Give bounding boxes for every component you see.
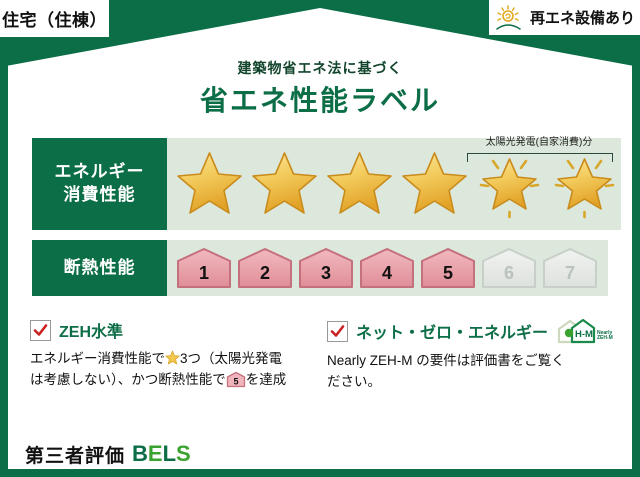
insulation-performance-key: 断熱性能	[32, 240, 167, 296]
third-party-eval-label: 第三者評価	[25, 441, 125, 468]
zeh-body-part2: 3つ（太陽光発電	[180, 351, 282, 366]
energy-performance-key: エネルギー 消費性能	[32, 138, 167, 230]
energy-performance-value: 太陽光発電(自家消費)分	[167, 138, 621, 230]
star-icon	[165, 350, 180, 365]
star-icon	[173, 149, 246, 219]
bels-certification-box: 第三者評価 BELS	[16, 440, 200, 468]
nearly-zeh-m-logo: H-M Nearly ZEH-M	[556, 318, 614, 344]
svg-text:H-M: H-M	[575, 329, 593, 340]
insulation-level-number: 3	[297, 263, 355, 284]
zeh-body-part3: は考慮しない）、かつ断熱性能で	[30, 372, 226, 387]
energy-performance-label: 住宅（住棟） 再エネ設備あり 建築物省エネ法に基づく 省エネ性能ラベル エネルギ…	[0, 0, 640, 477]
energy-key-line1: エネルギー	[55, 161, 145, 184]
insulation-level-house: 1	[175, 246, 233, 290]
evaluation-id: 4642e2b2-41e9-4415	[479, 459, 622, 469]
statement-nze-header: ネット・ゼロ・エネルギー H-M Nearly ZEH-M	[327, 318, 614, 344]
zeh-body-part1: エネルギー消費性能で	[30, 351, 165, 366]
bels-logo: BELS	[132, 441, 191, 467]
insulation-level-number: 2	[236, 263, 294, 284]
energy-performance-row: エネルギー 消費性能	[32, 138, 608, 230]
star-icon	[248, 149, 321, 219]
insulation-level-house: 3	[297, 246, 355, 290]
evaluation-date: 評価日 2024年11月22日	[479, 438, 622, 457]
label-footer: 第三者評価 BELS マヌール 評価日 2024年11月22日 4642e2b2…	[0, 433, 640, 477]
insulation-level-house: 4	[358, 246, 416, 290]
statement-zeh-level: ZEH水準 エネルギー消費性能で3つ（太陽光発電は考慮しない）、かつ断熱性能で5…	[30, 318, 313, 393]
check-icon	[30, 320, 51, 341]
statement-nze-body: Nearly ZEH-M の要件は評価書をご覧ください。	[327, 351, 614, 393]
bels-letter-s: S	[176, 441, 191, 466]
statement-zeh-header: ZEH水準	[30, 318, 313, 342]
insulation-performance-value: 1 2 3 4 5	[167, 240, 608, 296]
energy-key-line2: 消費性能	[64, 184, 136, 207]
star-icon	[323, 149, 396, 219]
insulation-level-house: 2	[236, 246, 294, 290]
insulation-performance-row: 断熱性能 1 2 3 4	[32, 240, 608, 296]
evaluation-info: 評価日 2024年11月22日 4642e2b2-41e9-4415	[479, 438, 622, 469]
label-title: 省エネ性能ラベル	[0, 79, 640, 119]
insulation-key-line1: 断熱性能	[64, 257, 136, 280]
insulation-level-scale: 1 2 3 4 5	[167, 246, 599, 290]
bels-letter-l: L	[163, 441, 176, 466]
house-5-icon: 5	[226, 371, 246, 388]
building-type-label: 住宅（住棟）	[2, 6, 107, 31]
renewable-equipment-badge: 再エネ設備あり	[488, 0, 640, 36]
zeh-body-part4: を達成	[246, 372, 287, 387]
bels-letter-e: E	[148, 441, 163, 466]
renewable-equipment-label: 再エネ設備あり	[530, 7, 635, 28]
statement-zeh-title: ZEH水準	[59, 318, 123, 342]
insulation-level-number: 7	[541, 263, 599, 284]
label-subtitle: 建築物省エネ法に基づく	[0, 58, 640, 78]
insulation-level-number: 5	[419, 263, 477, 284]
nze-body-part1: Nearly ZEH-M の要件は評価書をご覧く	[327, 353, 565, 368]
sun-icon	[494, 5, 524, 31]
svg-text:ZEH-M: ZEH-M	[597, 335, 613, 341]
statement-nze-title: ネット・ゼロ・エネルギー	[356, 319, 548, 343]
solar-annotation-label: 太陽光発電(自家消費)分	[463, 137, 615, 148]
check-icon	[327, 321, 348, 342]
nze-body-part2: ださい。	[327, 374, 381, 389]
insulation-level-number: 6	[480, 263, 538, 284]
statements-section: ZEH水準 エネルギー消費性能で3つ（太陽光発電は考慮しない）、かつ断熱性能で5…	[30, 318, 614, 393]
building-type-badge: 住宅（住棟）	[0, 0, 110, 38]
insulation-level-number: 1	[175, 263, 233, 284]
statement-zeh-body: エネルギー消費性能で3つ（太陽光発電は考慮しない）、かつ断熱性能で5を達成	[30, 349, 313, 391]
insulation-level-number: 4	[358, 263, 416, 284]
insulation-level-house: 5	[419, 246, 477, 290]
star-icon	[398, 149, 471, 219]
bels-subtitle: マヌール	[214, 446, 262, 463]
solar-annotation-bracket	[467, 153, 613, 162]
svg-text:5: 5	[233, 376, 238, 386]
insulation-level-house-inactive: 6	[480, 246, 538, 290]
bels-letter-b: B	[132, 441, 148, 466]
statement-net-zero-energy: ネット・ゼロ・エネルギー H-M Nearly ZEH-M Nearly ZEH…	[327, 318, 614, 393]
insulation-level-house-inactive: 7	[541, 246, 599, 290]
